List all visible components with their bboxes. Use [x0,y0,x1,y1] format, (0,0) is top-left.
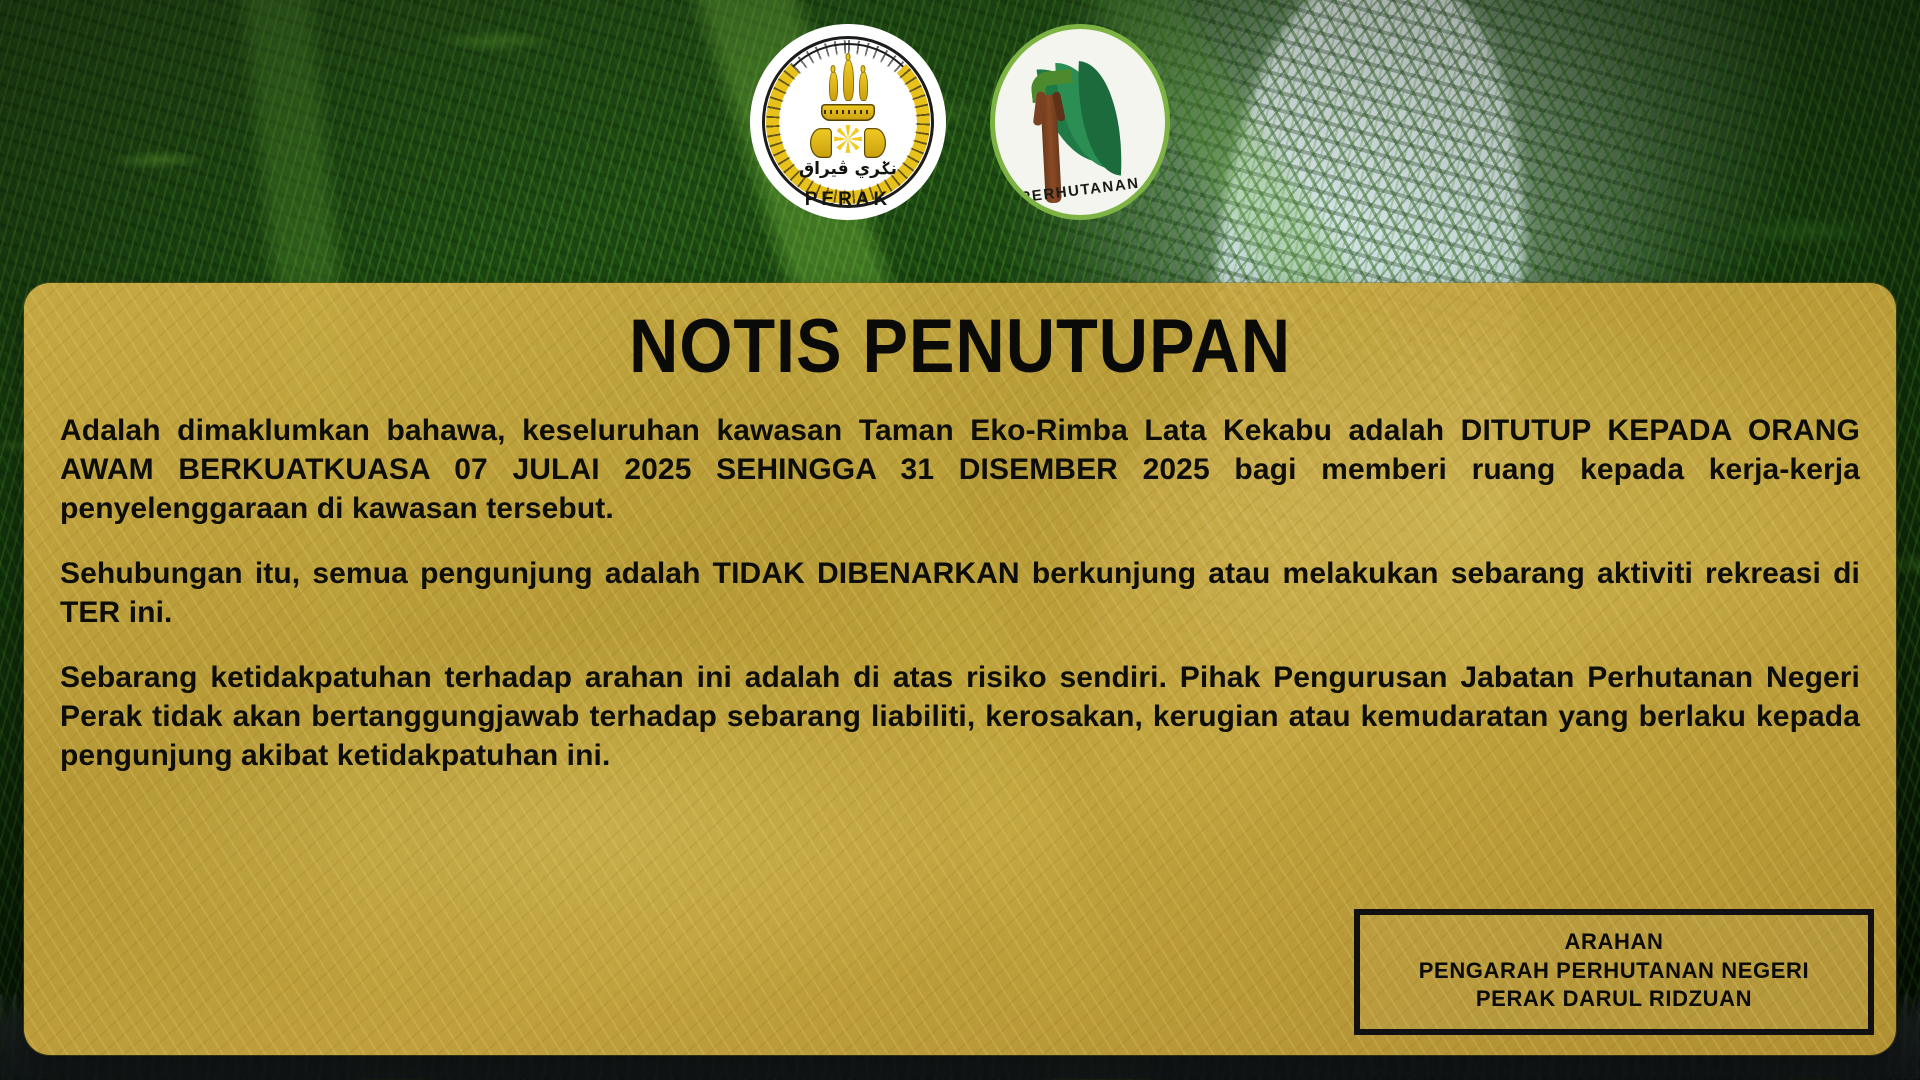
signature-line-3: PERAK DARUL RIDZUAN [1370,985,1858,1014]
perhutanan-forestry-logo: PERHUTANAN [990,24,1170,220]
forestry-disc: PERHUTANAN [990,24,1170,220]
signature-line-2: PENGARAH PERHUTANAN NEGERI [1370,957,1858,986]
page-title: NOTIS PENUTUPAN [150,309,1770,385]
notice-paragraph-1: Adalah dimaklumkan bahawa, keseluruhan k… [60,411,1860,528]
crest-plumes-icon [829,59,868,101]
authority-signature-box: ARAHAN PENGARAH PERHUTANAN NEGERI PERAK … [1354,909,1874,1035]
crest-scroll-left-icon [810,128,832,158]
crest-state-label: PERAK [750,189,946,211]
notice-paragraph-2: Sehubungan itu, semua pengunjung adalah … [60,554,1860,632]
forestry-department-label: PERHUTANAN [995,172,1166,210]
notice-paragraph-3: Sebarang ketidakpatuhan terhadap arahan … [60,658,1860,775]
crest-crown-icon [821,104,875,121]
crest-emblem-icon: نݢري ڤيراق [788,59,908,179]
crest-plume-center-icon [843,59,854,101]
crest-starburst-icon [834,125,862,153]
logo-row: نݢري ڤيراق PERAK PERHUTANAN [0,24,1920,220]
crest-base-icon [812,124,884,154]
notice-panel: NOTIS PENUTUPAN Adalah dimaklumkan bahaw… [24,283,1896,1055]
crest-jawi-script: نݢري ڤيراق [799,158,897,179]
crest-plume-left-icon [829,71,838,101]
crest-plume-right-icon [859,71,868,101]
crest-scroll-right-icon [864,128,886,158]
signature-line-1: ARAHAN [1370,928,1858,957]
perak-state-crest-logo: نݢري ڤيراق PERAK [750,24,946,220]
closure-notice-poster: نݢري ڤيراق PERAK PERHUTANAN NOTIS PENUTU… [0,0,1920,1080]
crest-disc: نݢري ڤيراق PERAK [750,24,946,220]
notice-body: Adalah dimaklumkan bahawa, keseluruhan k… [60,411,1860,775]
